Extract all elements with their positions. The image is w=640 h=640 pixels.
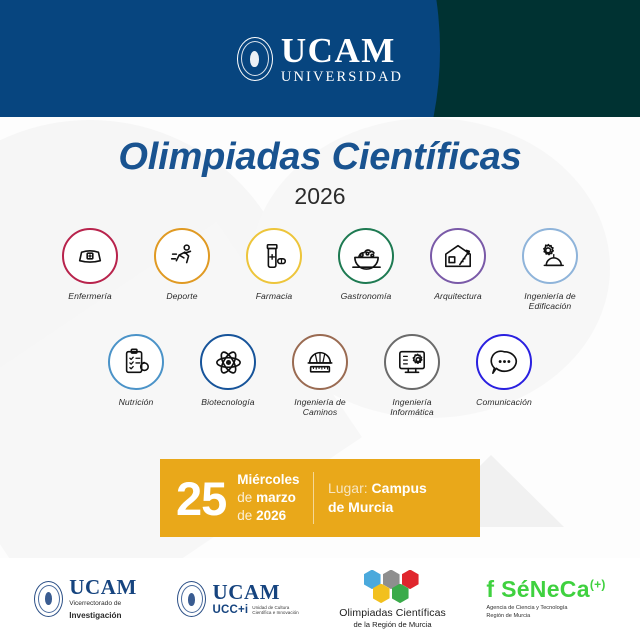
discipline-ingenieria-edificacion[interactable]: Ingeniería de Edificación: [514, 228, 586, 312]
discipline-biotecnologia[interactable]: Biotecnología: [192, 334, 264, 418]
footer-logo-ucci: UCAM UCC+i Unidad de Cultura Científica …: [177, 581, 298, 617]
discipline-label: Nutrición: [119, 397, 154, 407]
ucam-seal-icon: [177, 581, 206, 617]
place-line-1: Campus: [372, 480, 427, 496]
salad-bowl-icon: [351, 241, 382, 272]
enfermeria-ring: [62, 228, 118, 284]
event-day-number: 25: [176, 475, 226, 522]
nutricion-ring: [108, 334, 164, 390]
deporte-ring: [154, 228, 210, 284]
house-ruler-icon: [443, 241, 473, 271]
discipline-label: Enfermería: [68, 291, 112, 301]
event-month: marzo: [256, 490, 296, 505]
ingenieria-caminos-ring: [292, 334, 348, 390]
discipline-enfermeria[interactable]: Enfermería: [54, 228, 126, 312]
discipline-comunicacion[interactable]: Comunicación: [468, 334, 540, 418]
discipline-arquitectura[interactable]: Arquitectura: [422, 228, 494, 312]
discipline-label: Gastronomía: [341, 291, 392, 301]
discipline-label: Farmacia: [256, 291, 293, 301]
date-banner: 25 Miércoles de marzo de 2026 Lugar: Cam…: [160, 459, 480, 537]
discipline-row-1: Enfermería Deporte: [0, 228, 640, 312]
gastronomia-ring: [338, 228, 394, 284]
header-band: UCAM UNIVERSIDAD: [0, 0, 640, 117]
gear-helmet-icon: [535, 241, 565, 271]
helmet-ruler-icon: [305, 347, 335, 377]
event-place-text: Lugar: Campus de Murcia: [328, 479, 427, 516]
atom-icon: [213, 347, 244, 378]
place-line-2: de Murcia: [328, 499, 393, 515]
clipboard-apple-icon: [121, 347, 151, 377]
medicine-bottle-icon: [259, 241, 289, 271]
event-weekday: Miércoles: [237, 472, 299, 487]
event-date-text: Miércoles de marzo de 2026: [237, 471, 299, 525]
vicerrectorado-line1: Vicerrectorado de: [69, 600, 137, 608]
footer-logo-vicerrectorado: UCAM Vicerrectorado de Investigación: [34, 577, 137, 621]
discipline-farmacia[interactable]: Farmacia: [238, 228, 310, 312]
ucam-seal-icon: [34, 581, 63, 617]
ucam-wordmark: UCAM: [212, 582, 298, 603]
discipline-nutricion[interactable]: Nutrición: [100, 334, 172, 418]
discipline-ingenieria-informatica[interactable]: Ingeniería Informática: [376, 334, 448, 418]
ingenieria-informatica-ring: [384, 334, 440, 390]
olimpiadas-title: Olimpiadas Científicas: [339, 607, 446, 619]
footer-logo-olimpiadas: Olimpiadas Científicas de la Región de M…: [339, 570, 446, 629]
ucci-wordmark: UCC+i: [212, 605, 248, 617]
biotecnologia-ring: [200, 334, 256, 390]
event-month-prefix: de: [237, 490, 252, 505]
ucam-wordmark: UCAM: [281, 33, 403, 68]
discipline-label: Comunicación: [476, 397, 532, 407]
nurse-cap-icon: [75, 241, 105, 271]
event-year: 2026: [256, 508, 286, 523]
footer-logo-seneca: f SéNeCa(+) Agencia de Ciencia y Tecnolo…: [486, 578, 605, 620]
title-block: Olimpiadas Científicas 2026: [0, 138, 640, 208]
page-title: Olimpiadas Científicas: [0, 138, 640, 176]
discipline-label: Ingeniería Informática: [376, 397, 448, 418]
poster-root: UCAM UNIVERSIDAD Olimpiadas Científicas …: [0, 0, 640, 640]
banner-divider: [313, 472, 314, 524]
discipline-label: Biotecnología: [201, 397, 254, 407]
discipline-label: Arquitectura: [434, 291, 482, 301]
discipline-ingenieria-caminos[interactable]: Ingeniería de Caminos: [284, 334, 356, 418]
ucci-subtitle: Unidad de Cultura Científica e Innovació…: [252, 605, 298, 617]
ucam-header-logo: UCAM UNIVERSIDAD: [237, 33, 403, 85]
monitor-gear-icon: [397, 347, 427, 377]
seneca-wordmark: f SéNeCa(+): [486, 578, 605, 601]
ucam-wordmark-sub: UNIVERSIDAD: [281, 70, 403, 85]
ingenieria-edificacion-ring: [522, 228, 578, 284]
speech-bubble-icon: [489, 347, 520, 378]
discipline-label: Ingeniería de Edificación: [514, 291, 586, 312]
seneca-subtitle: Agencia de Ciencia y Tecnología Región d…: [486, 605, 567, 620]
discipline-gastronomia[interactable]: Gastronomía: [330, 228, 402, 312]
discipline-deporte[interactable]: Deporte: [146, 228, 218, 312]
discipline-label: Ingeniería de Caminos: [284, 397, 356, 418]
comunicacion-ring: [476, 334, 532, 390]
hexagon-logo-icon: [362, 570, 424, 604]
discipline-row-2: Nutrición Biotecnología: [0, 334, 640, 418]
ucam-wordmark: UCAM: [69, 577, 137, 598]
arquitectura-ring: [430, 228, 486, 284]
runner-icon: [167, 241, 197, 271]
olimpiadas-subtitle: de la Región de Murcia: [354, 620, 432, 629]
ucam-seal-icon: [237, 37, 273, 81]
vicerrectorado-line2: Investigación: [69, 611, 137, 621]
discipline-label: Deporte: [166, 291, 197, 301]
event-year-prefix: de: [237, 508, 252, 523]
page-subtitle-year: 2026: [0, 185, 640, 208]
place-label: Lugar:: [328, 480, 368, 496]
farmacia-ring: [246, 228, 302, 284]
footer-logos: UCAM Vicerrectorado de Investigación UCA…: [0, 558, 640, 640]
